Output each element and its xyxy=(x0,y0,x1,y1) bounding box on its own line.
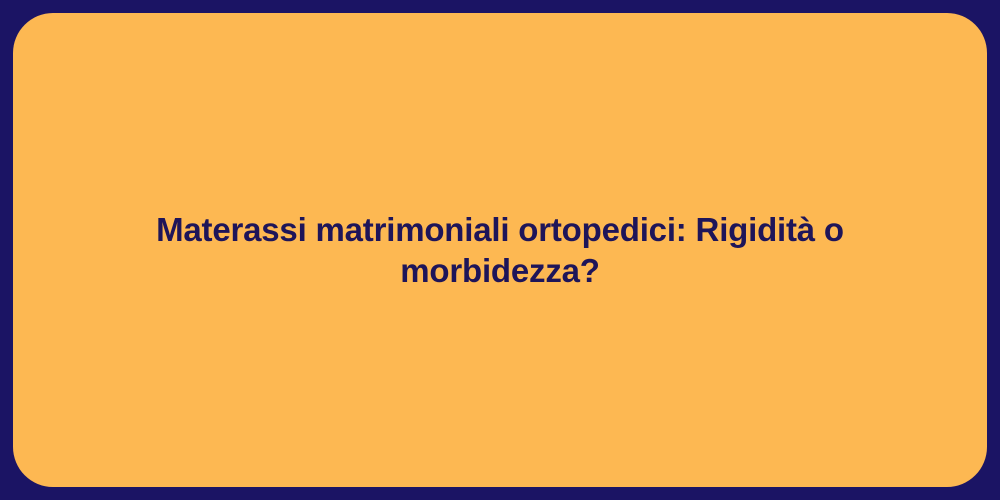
banner-card: Materassi matrimoniali ortopedici: Rigid… xyxy=(13,13,987,487)
banner-title: Materassi matrimoniali ortopedici: Rigid… xyxy=(62,209,939,292)
banner-frame: Materassi matrimoniali ortopedici: Rigid… xyxy=(0,0,1000,500)
